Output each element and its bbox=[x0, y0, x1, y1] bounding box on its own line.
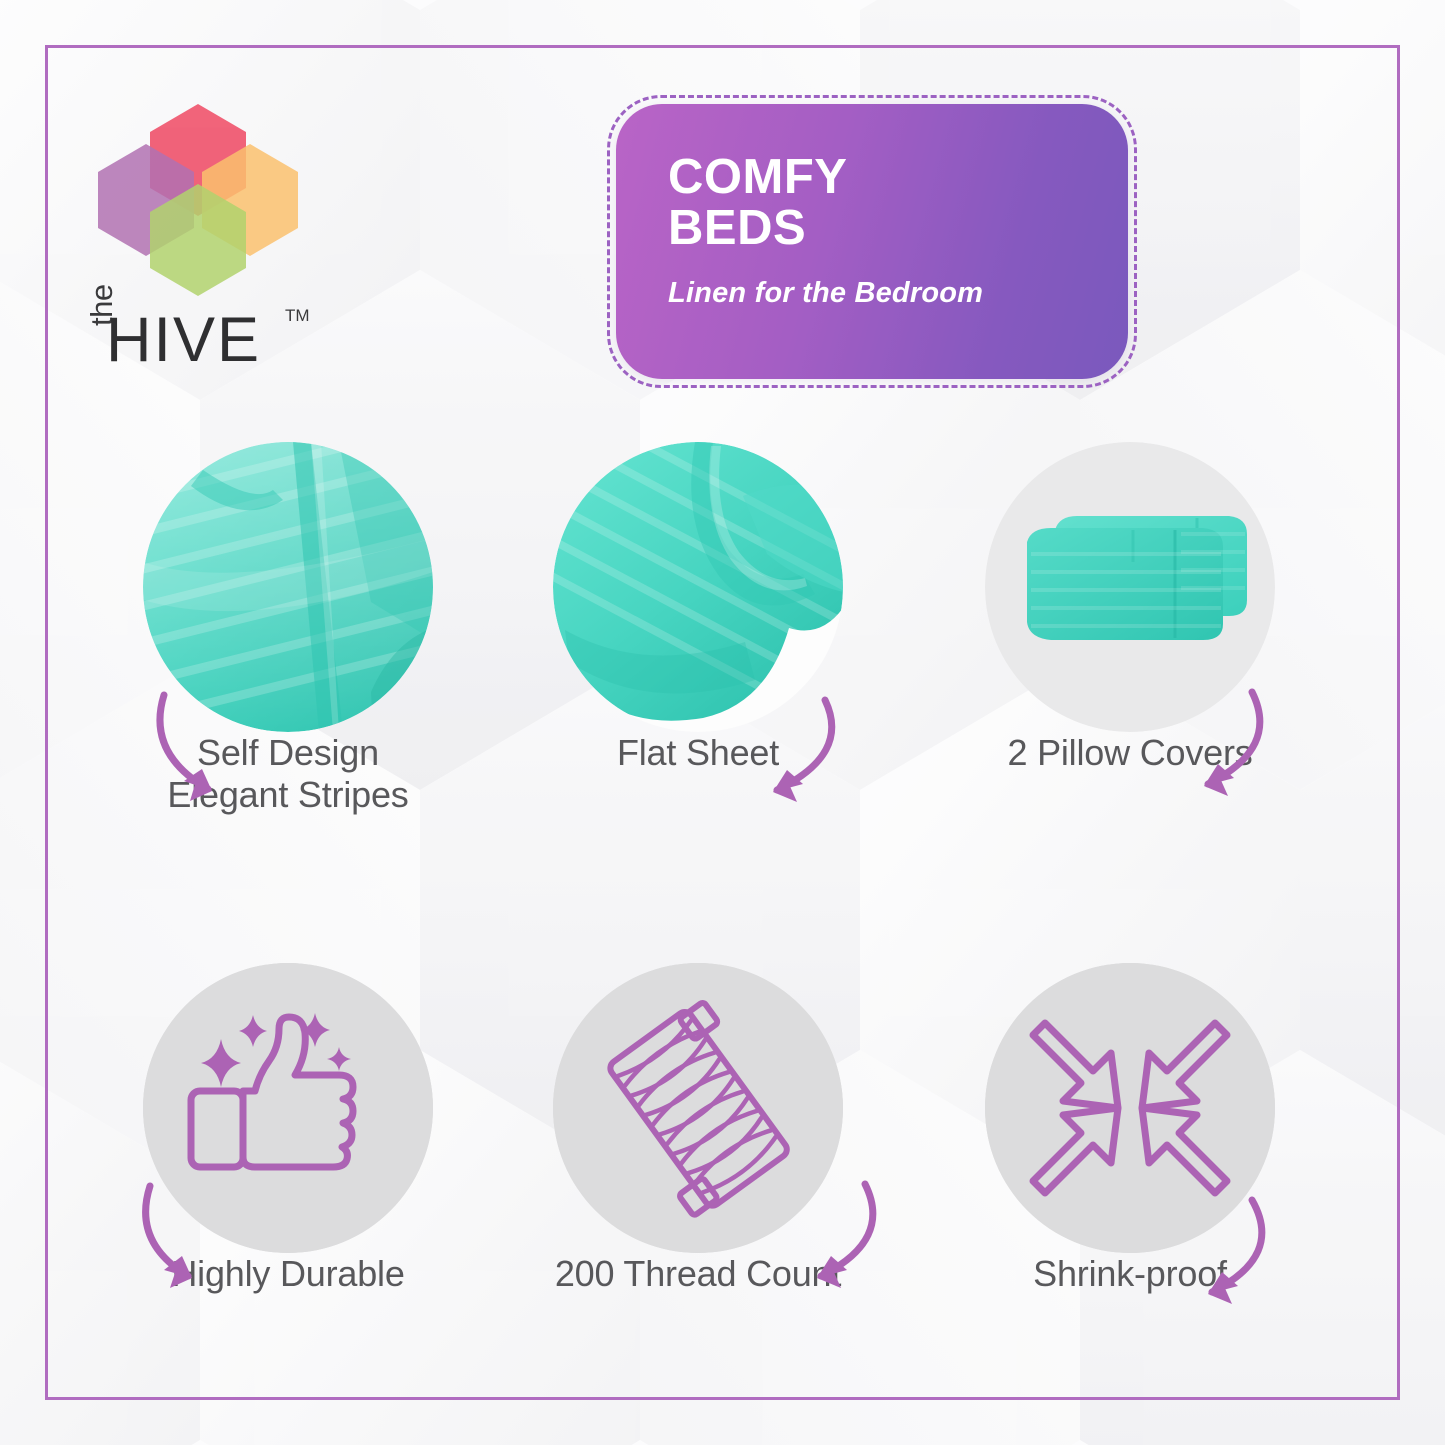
fabric-closeup-photo bbox=[143, 442, 433, 732]
caption-line-1: 200 Thread Count bbox=[488, 1253, 908, 1295]
feature-card-shrink-proof: Shrink-proof bbox=[920, 963, 1340, 1295]
feature-caption-flat-sheet: Flat Sheet bbox=[488, 732, 908, 774]
caption-line-1: Highly Durable bbox=[78, 1253, 498, 1295]
shrink-arrows-icon bbox=[985, 963, 1275, 1253]
thread-spool-icon bbox=[553, 963, 843, 1253]
infographic-canvas: the HIVE TM COMFY BEDS Linen for the Bed… bbox=[0, 0, 1445, 1445]
feature-caption-shrink-proof: Shrink-proof bbox=[920, 1253, 1340, 1295]
caption-line-1: 2 Pillow Covers bbox=[920, 732, 1340, 774]
feature-caption-self-design: Self Design Elegant Stripes bbox=[78, 732, 498, 817]
feature-card-self-design: Self Design Elegant Stripes bbox=[78, 442, 498, 817]
feature-card-flat-sheet: Flat Sheet bbox=[488, 442, 908, 774]
thumbs-up-sparkle-icon bbox=[143, 963, 433, 1253]
feature-card-pillow-covers: 2 Pillow Covers bbox=[920, 442, 1340, 774]
feature-caption-highly-durable: Highly Durable bbox=[78, 1253, 498, 1295]
feature-caption-thread-count: 200 Thread Count bbox=[488, 1253, 908, 1295]
caption-line-1: Shrink-proof bbox=[920, 1253, 1340, 1295]
flat-sheet-photo bbox=[553, 442, 843, 732]
pillow-covers-photo bbox=[985, 442, 1275, 732]
caption-line-1: Self Design bbox=[78, 732, 498, 774]
caption-line-1: Flat Sheet bbox=[488, 732, 908, 774]
feature-card-thread-count: 200 Thread Count bbox=[488, 963, 908, 1295]
feature-caption-pillow-covers: 2 Pillow Covers bbox=[920, 732, 1340, 774]
feature-card-highly-durable: Highly Durable bbox=[78, 963, 498, 1295]
caption-line-2: Elegant Stripes bbox=[78, 774, 498, 816]
feature-grid: Self Design Elegant Stripes bbox=[0, 0, 1445, 1445]
